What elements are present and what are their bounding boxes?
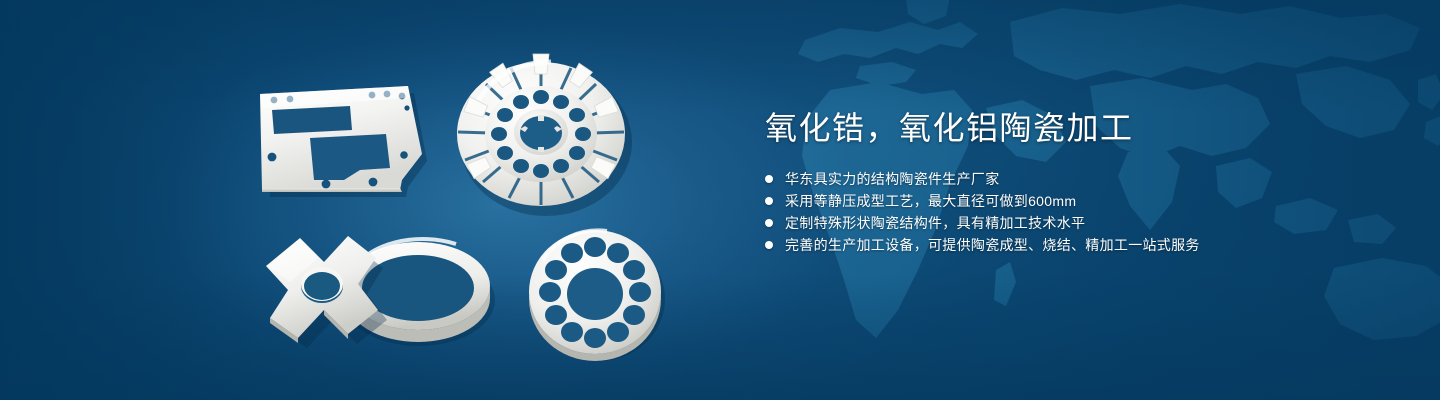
banner-text-block: 氧化锆，氧化铝陶瓷加工 华东具实力的结构陶瓷件生产厂家 采用等静压成型工艺，最大… [765, 108, 1385, 256]
bullet-dot-icon [765, 197, 773, 205]
bullet-dot-icon [765, 241, 773, 249]
list-item-label: 采用等静压成型工艺，最大直径可做到600mm [785, 190, 1076, 212]
bullet-dot-icon [765, 175, 773, 183]
list-item: 完善的生产加工设备，可提供陶瓷成型、烧结、精加工一站式服务 [765, 234, 1385, 256]
ceramic-cross-plate-and-ring [256, 222, 502, 362]
list-item-label: 华东具实力的结构陶瓷件生产厂家 [785, 168, 1000, 190]
list-item-label: 定制特殊形状陶瓷结构件，具有精加工技术水平 [785, 212, 1085, 234]
list-item-label: 完善的生产加工设备，可提供陶瓷成型、烧结、精加工一站式服务 [785, 234, 1200, 256]
banner-headline: 氧化锆，氧化铝陶瓷加工 [765, 108, 1385, 148]
hero-banner: 氧化锆，氧化铝陶瓷加工 华东具实力的结构陶瓷件生产厂家 采用等静压成型工艺，最大… [0, 0, 1440, 400]
ceramic-valve-plate [522, 222, 672, 364]
list-item: 定制特殊形状陶瓷结构件，具有精加工技术水平 [765, 212, 1385, 234]
ceramic-impeller-rotor [448, 50, 634, 215]
list-item: 华东具实力的结构陶瓷件生产厂家 [765, 168, 1385, 190]
ceramic-mounting-plate [252, 82, 432, 200]
bullet-dot-icon [765, 219, 773, 227]
banner-feature-list: 华东具实力的结构陶瓷件生产厂家 采用等静压成型工艺，最大直径可做到600mm 定… [765, 168, 1385, 256]
list-item: 采用等静压成型工艺，最大直径可做到600mm [765, 190, 1385, 212]
